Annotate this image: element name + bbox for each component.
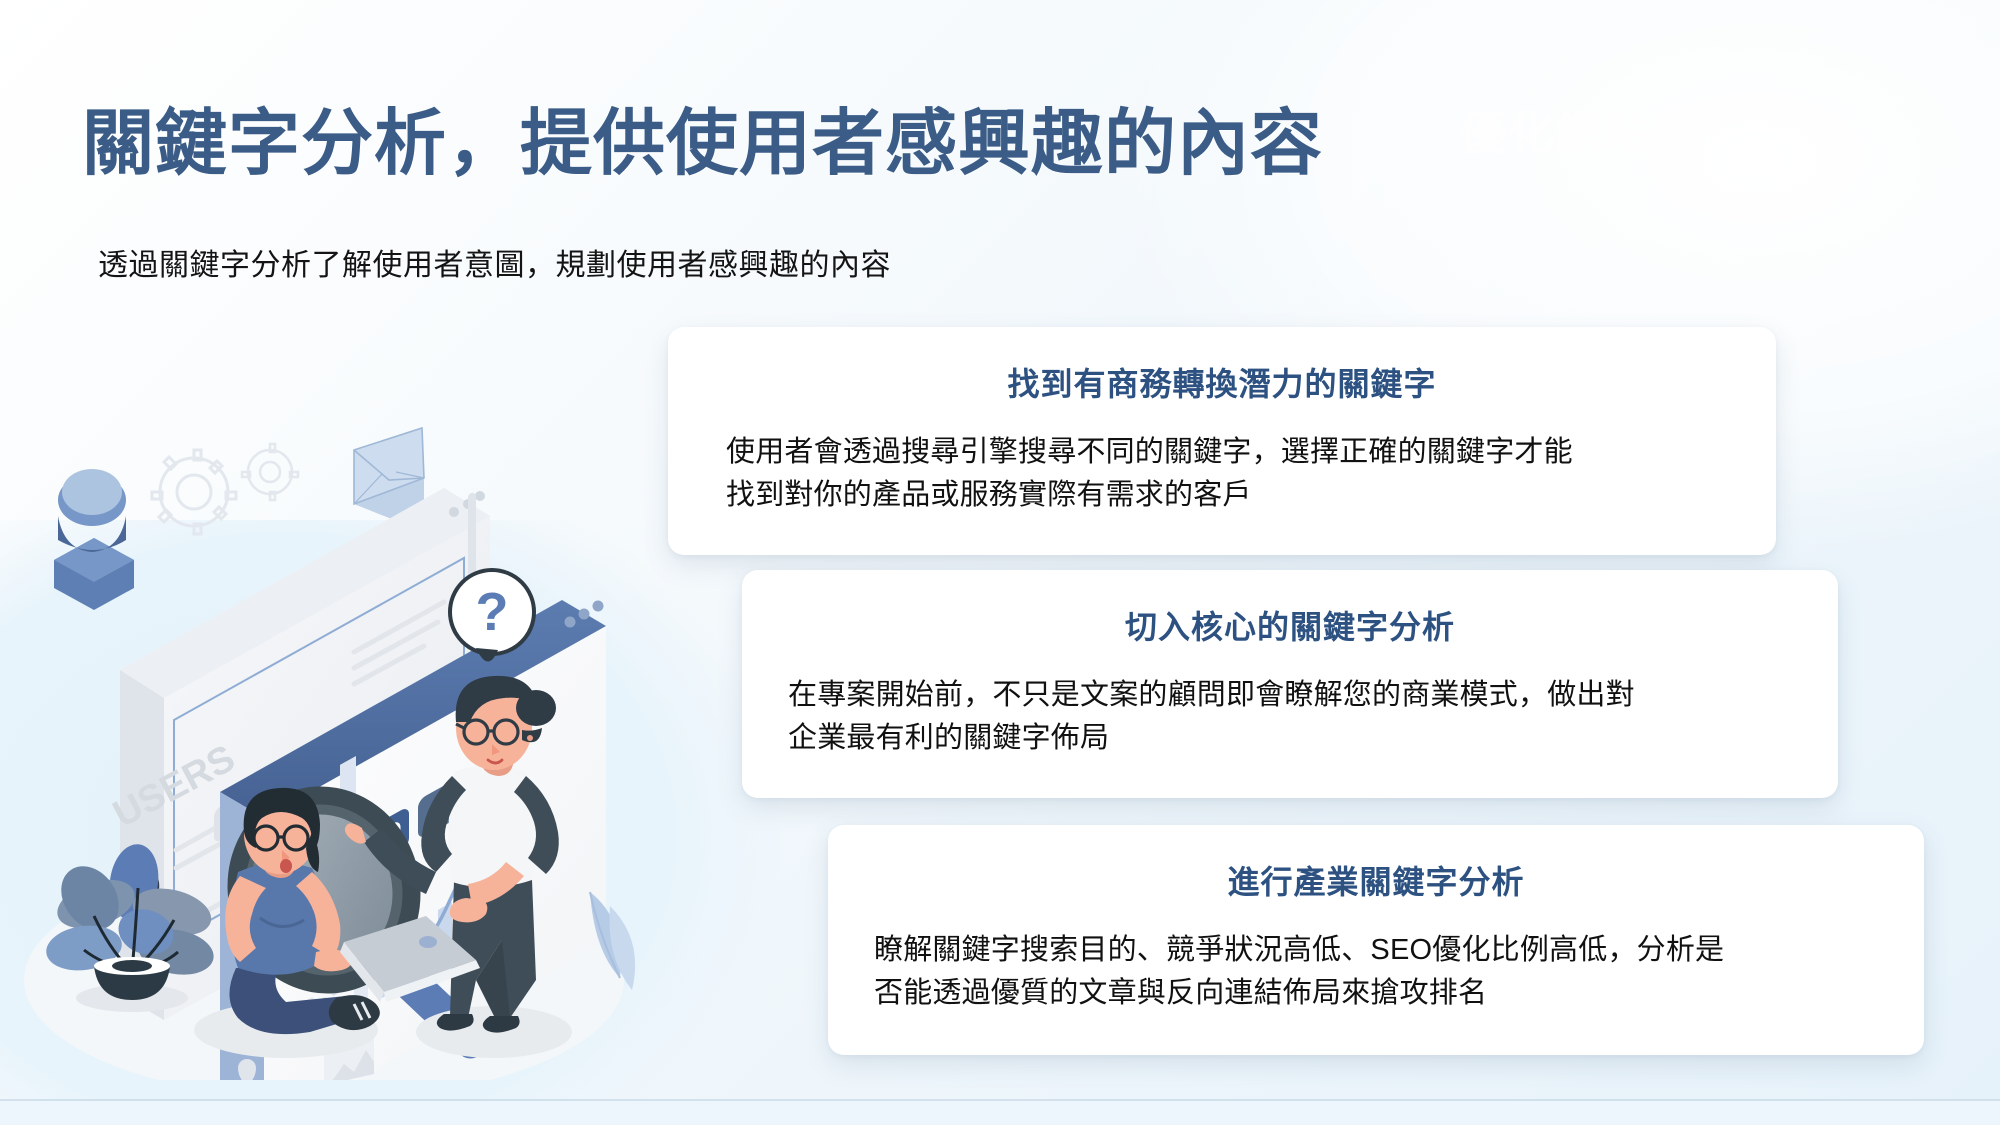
illustration-pin-icon xyxy=(238,1059,256,1080)
info-card-2-body: 在專案開始前，不只是文案的顧問即會瞭解您的商業模式，做出對 企業最有利的關鍵字佈… xyxy=(788,674,1838,760)
page-subtitle: 透過關鍵字分析了解使用者意圖，規劃使用者感興趣的內容 xyxy=(98,245,891,287)
info-card-3[interactable]: 進行產業關鍵字分析 瞭解關鍵字搜索目的、競爭狀況高低、SEO優化比例高低，分析是… xyxy=(828,825,1924,1055)
info-card-1-body: 使用者會透過搜尋引擎搜尋不同的關鍵字，選擇正確的關鍵字才能 找到對你的產品或服務… xyxy=(726,431,1776,517)
info-card-3-title: 進行產業關鍵字分析 xyxy=(828,857,1924,903)
user-avatar-icon xyxy=(54,469,134,610)
gear-icon xyxy=(152,450,236,534)
info-card-1[interactable]: 找到有商務轉換潛力的關鍵字 使用者會透過搜尋引擎搜尋不同的關鍵字，選擇正確的關鍵… xyxy=(668,327,1776,555)
bottom-band xyxy=(0,1101,2000,1125)
info-card-3-body: 瞭解關鍵字搜索目的、競爭狀況高低、SEO優化比例高低，分析是 否能透過優質的文章… xyxy=(874,929,1924,1015)
question-bubble-label: ? xyxy=(476,582,509,642)
illustration-svg: USERS xyxy=(24,420,714,1080)
page-title: 關鍵字分析，提供使用者感興趣的內容 xyxy=(82,104,1323,185)
keyword-analysis-illustration: USERS xyxy=(24,420,714,1080)
info-card-2-title: 切入核心的關鍵字分析 xyxy=(742,602,1838,648)
info-card-2[interactable]: 切入核心的關鍵字分析 在專案開始前，不只是文案的顧問即會瞭解您的商業模式，做出對… xyxy=(742,570,1838,798)
info-card-1-title: 找到有商務轉換潛力的關鍵字 xyxy=(668,359,1776,405)
gear-icon-small xyxy=(242,444,298,500)
slide-canvas: 優化網站架構 關鍵字分析，提供使用者感興趣的內容 透過關鍵字分析了解使用者意圖，… xyxy=(0,0,2000,1125)
watermark-text: 優化網站架構 xyxy=(1460,97,1748,163)
